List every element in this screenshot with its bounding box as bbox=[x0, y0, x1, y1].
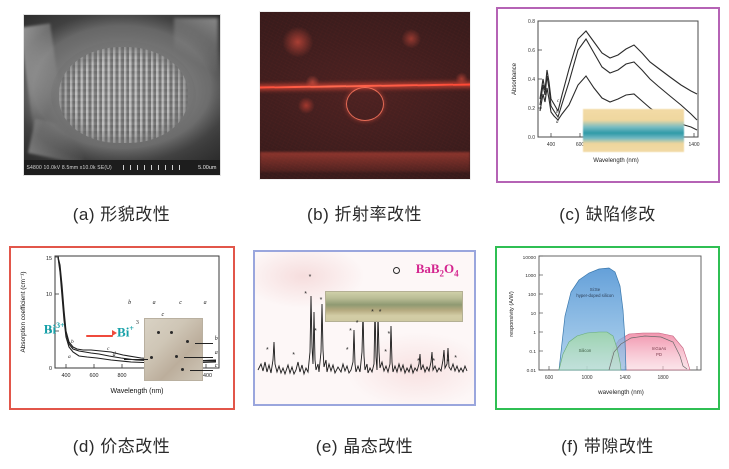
svg-text:0.2: 0.2 bbox=[528, 106, 535, 112]
svg-text:10000: 10000 bbox=[523, 255, 537, 261]
bi3plus-symbol: Bi bbox=[44, 321, 56, 336]
inset-3-dot-a bbox=[175, 355, 178, 358]
biplus-charge: + bbox=[129, 324, 134, 333]
panel-c-absorbance-plot: 0.0 0.2 0.4 0.6 0.8 400 600 bbox=[496, 7, 720, 183]
responsivity-chart: 0.01 0.1 1 10 100 1000 10000 600 bbox=[497, 248, 714, 404]
label-hyperdoped-line1: Si:Se bbox=[590, 287, 601, 292]
biplus-symbol: Bi bbox=[117, 325, 129, 340]
sem-scalebar-label: 5.00um bbox=[198, 165, 216, 171]
peak-marker: * bbox=[447, 359, 450, 366]
inset-3-label-c-top: c bbox=[161, 312, 164, 318]
label-hyperdoped-line2: hyper-doped silicon bbox=[576, 293, 614, 298]
panel-e-sample-strip bbox=[325, 291, 463, 322]
chart-f-x-tick-labels: 600 1000 1400 1800 bbox=[545, 375, 669, 381]
peak-marker: * bbox=[266, 347, 269, 354]
six-panel-figure: S4800 10.0kV 8.5mm x10.0k SE(U) 5.00um bbox=[0, 0, 729, 469]
inset-1-label-b: b bbox=[128, 300, 131, 306]
svg-text:600: 600 bbox=[89, 373, 98, 379]
waveguide-ring-resonator bbox=[346, 87, 384, 121]
peak-marker: * bbox=[417, 358, 420, 365]
peak-marker: * bbox=[387, 331, 390, 338]
caption-b-cell: (b) 折射率改性 bbox=[243, 190, 486, 235]
svg-text:400: 400 bbox=[61, 373, 70, 379]
panel-f-cell: 0.01 0.1 1 10 100 1000 10000 600 bbox=[486, 235, 729, 420]
inset-3-arrow-b bbox=[195, 343, 213, 344]
phase-marker-circle-icon bbox=[393, 267, 400, 274]
peak-marker: * bbox=[432, 358, 435, 365]
peak-marker: * bbox=[292, 352, 295, 359]
conversion-arrow-head bbox=[112, 330, 117, 336]
chart-f-xlabel: wavelength (nm) bbox=[597, 389, 644, 396]
caption-f: (f) 带隙改性 bbox=[561, 432, 654, 457]
inset-3-arrow-a bbox=[184, 357, 213, 358]
peak-marker: * bbox=[309, 274, 312, 281]
panel-d-absorption-plot: 0 5 10 15 400 600 800 1000 bbox=[9, 246, 235, 410]
peak-marker: * bbox=[304, 291, 307, 298]
svg-text:0.6: 0.6 bbox=[528, 48, 535, 54]
inset-3-label-d: d bbox=[113, 352, 116, 358]
phase-label-sub2: 4 bbox=[454, 268, 459, 278]
svg-text:400: 400 bbox=[546, 142, 555, 148]
phase-label-part2: O bbox=[444, 261, 454, 276]
panel-a-cell: S4800 10.0kV 8.5mm x10.0k SE(U) 5.00um bbox=[0, 0, 243, 190]
phase-label-part1: BaB bbox=[416, 261, 440, 276]
peak-marker: * bbox=[349, 328, 352, 335]
chart-c-y-tick-labels: 0.0 0.2 0.4 0.6 0.8 bbox=[528, 19, 535, 141]
bi3plus-annotation: Bi3+ bbox=[44, 321, 65, 337]
sem-highlight-right bbox=[174, 18, 217, 82]
phase-label-bab2o4: BaB2O4 bbox=[416, 261, 459, 279]
caption-e-cell: (e) 晶态改性 bbox=[243, 420, 486, 469]
inset-3-label-b: b bbox=[215, 336, 218, 342]
conversion-arrow-line bbox=[86, 335, 113, 338]
caption-b: (b) 折射率改性 bbox=[307, 200, 422, 225]
panel-c-cell: 0.0 0.2 0.4 0.6 0.8 400 600 bbox=[486, 0, 729, 190]
chart-c-ylabel: Absorbance bbox=[512, 62, 518, 95]
sem-info-bar: S4800 10.0kV 8.5mm x10.0k SE(U) 5.00um bbox=[24, 160, 220, 175]
svg-text:1000: 1000 bbox=[581, 375, 592, 381]
chart-d-ylabel: Absorption coefficient (cm⁻¹) bbox=[20, 271, 27, 352]
svg-text:10: 10 bbox=[531, 311, 537, 317]
svg-text:a: a bbox=[68, 354, 71, 360]
caption-e: (e) 晶态改性 bbox=[316, 432, 414, 457]
svg-text:0.01: 0.01 bbox=[527, 368, 537, 374]
label-silicon: Silicon bbox=[579, 348, 592, 353]
inset-3-label-c: c bbox=[215, 363, 218, 369]
panel-c-inset-micrograph bbox=[583, 109, 684, 152]
panel-d-cell: 0 5 10 15 400 600 800 1000 bbox=[0, 235, 243, 420]
panel-a-sem-image: S4800 10.0kV 8.5mm x10.0k SE(U) 5.00um bbox=[23, 14, 221, 176]
peak-marker: * bbox=[384, 349, 387, 356]
inset-3-dot-c bbox=[157, 331, 160, 334]
svg-text:10: 10 bbox=[46, 292, 52, 298]
peak-marker: * bbox=[371, 309, 374, 316]
panel-b-cell bbox=[243, 0, 486, 190]
biplus-annotation: Bi+ bbox=[117, 324, 134, 340]
peak-marker: * bbox=[346, 347, 349, 354]
absorbance-chart: 0.0 0.2 0.4 0.6 0.8 400 600 bbox=[498, 9, 714, 177]
svg-text:0: 0 bbox=[49, 366, 52, 372]
caption-c: (c) 缺陷修改 bbox=[559, 200, 656, 225]
svg-text:0.8: 0.8 bbox=[528, 19, 535, 25]
inset-2-label-a: a bbox=[204, 300, 207, 306]
svg-text:600: 600 bbox=[545, 375, 554, 381]
inset-3-number: 3 bbox=[136, 320, 139, 326]
chart-d-xlabel: Wavelength (nm) bbox=[110, 388, 163, 395]
panel-e-raman-spectrum: BaB2O4 * * * * * * * * * * * * * * * * * bbox=[253, 250, 476, 406]
peak-marker: * bbox=[320, 297, 323, 304]
sem-scalebar-ticks bbox=[123, 165, 185, 170]
svg-text:15: 15 bbox=[46, 256, 52, 262]
inset-3-label-a: a bbox=[215, 350, 218, 356]
panel-f-responsivity-plot: 0.01 0.1 1 10 100 1000 10000 600 bbox=[495, 246, 720, 410]
peak-marker: * bbox=[356, 320, 359, 327]
caption-a-cell: (a) 形貌改性 bbox=[0, 190, 243, 235]
panel-e-cell: BaB2O4 * * * * * * * * * * * * * * * * * bbox=[243, 235, 486, 420]
sem-instrument-text: S4800 10.0kV 8.5mm x10.0k SE(U) bbox=[27, 165, 112, 171]
svg-text:1: 1 bbox=[533, 330, 536, 336]
svg-text:1400: 1400 bbox=[688, 142, 699, 148]
bi3plus-charge: 3+ bbox=[56, 321, 65, 330]
label-ingaas-line1: InGaAs bbox=[652, 346, 666, 351]
svg-text:1400: 1400 bbox=[619, 375, 630, 381]
peak-marker: * bbox=[314, 328, 317, 335]
chart-d-y-tick-labels: 0 5 10 15 bbox=[46, 256, 52, 372]
peak-marker: * bbox=[379, 309, 382, 316]
svg-text:100: 100 bbox=[528, 292, 536, 298]
caption-f-cell: (f) 带隙改性 bbox=[486, 420, 729, 469]
inset-3-arrow-d bbox=[124, 359, 148, 360]
svg-text:0.4: 0.4 bbox=[528, 77, 535, 83]
caption-c-cell: (c) 缺陷修改 bbox=[486, 190, 729, 235]
chart-f-y-tick-labels: 0.01 0.1 1 10 100 1000 10000 bbox=[523, 255, 537, 374]
caption-d: (d) 价态改性 bbox=[73, 432, 171, 457]
inset-3-arrow-c bbox=[190, 370, 212, 371]
svg-text:0.1: 0.1 bbox=[529, 349, 536, 355]
caption-d-cell: (d) 价态改性 bbox=[0, 420, 243, 469]
panel-b-fluorescence-image bbox=[259, 11, 471, 180]
svg-text:800: 800 bbox=[117, 373, 126, 379]
inset-1-label-a: a bbox=[153, 300, 156, 306]
inset-2-label-c: c bbox=[179, 300, 182, 306]
svg-text:1800: 1800 bbox=[657, 375, 668, 381]
svg-text:b: b bbox=[71, 339, 74, 345]
peak-marker: * bbox=[454, 355, 457, 362]
chart-c-xlabel: Wavelength (nm) bbox=[593, 158, 638, 164]
svg-text:0.0: 0.0 bbox=[528, 135, 535, 141]
caption-a: (a) 形貌改性 bbox=[73, 200, 171, 225]
svg-text:1000: 1000 bbox=[525, 273, 536, 279]
chart-f-ylabel: responsivity (A/W) bbox=[509, 291, 515, 337]
fluorescence-bottom-band bbox=[260, 152, 470, 172]
label-ingaas-line2: PD bbox=[656, 352, 662, 357]
panel-d-inset-3 bbox=[144, 318, 204, 381]
